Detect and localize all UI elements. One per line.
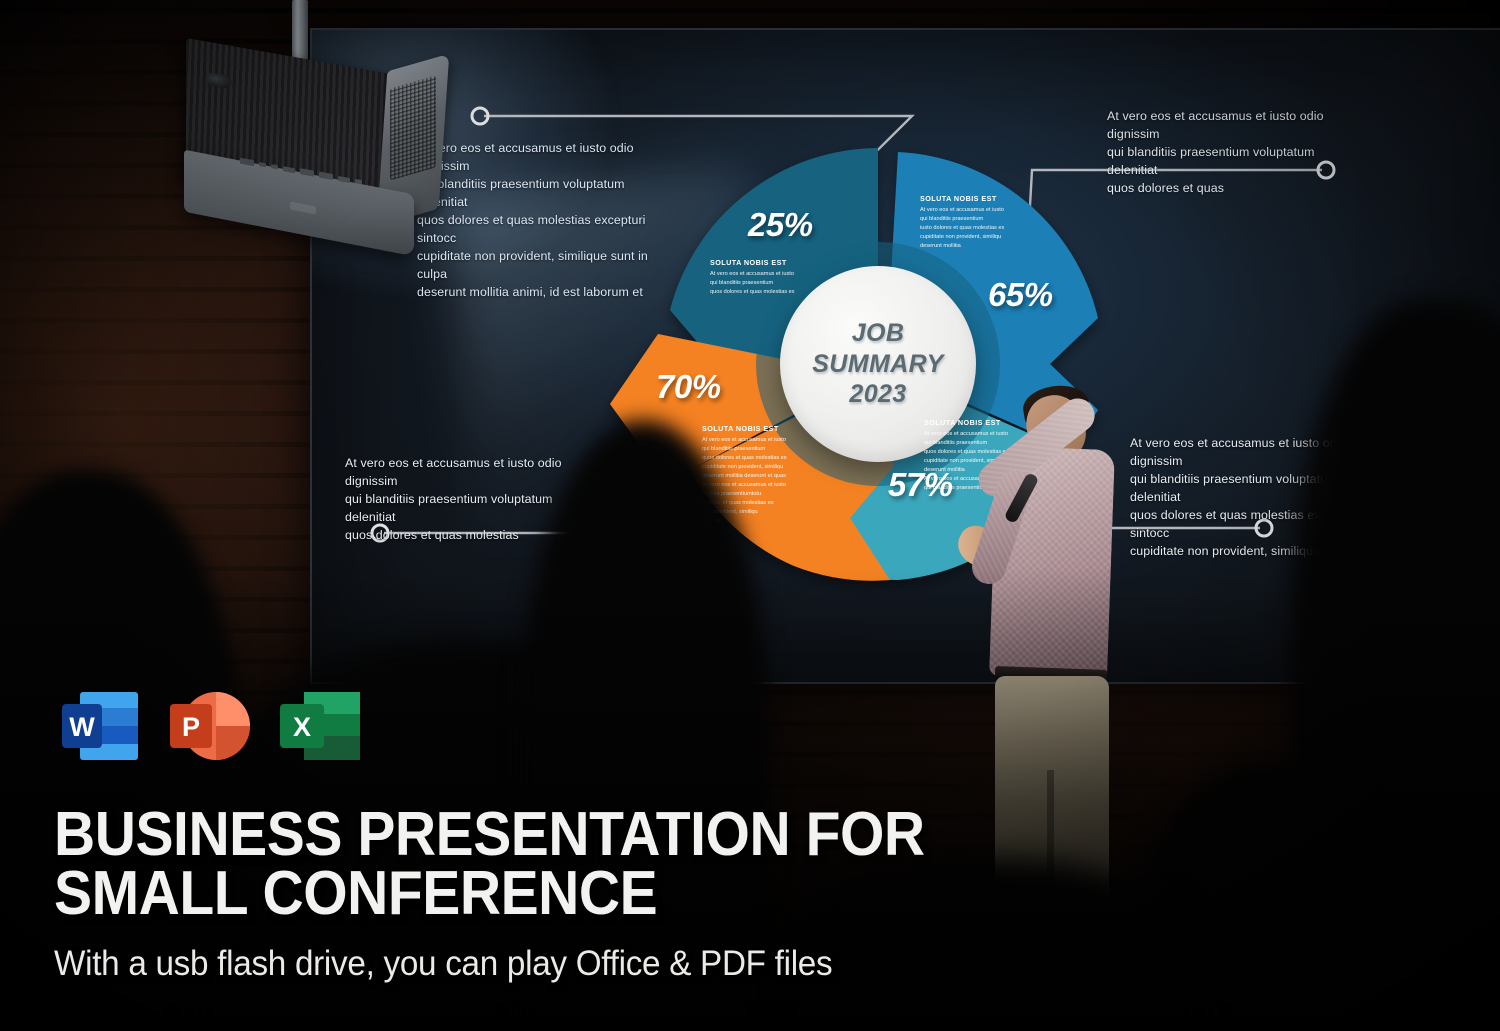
powerpoint-icon[interactable]: P — [164, 688, 256, 764]
segment-label-25: 25% — [748, 206, 813, 244]
port-hdmi-2 — [319, 172, 333, 180]
excel-icon-letter: X — [293, 712, 311, 742]
banner-headline: BUSINESS PRESENTATION FOR SMALL CONFEREN… — [54, 806, 1029, 924]
port-lan — [355, 179, 362, 184]
segment-text-65: SOLUTA NOBIS EST At vero eos et accusamu… — [920, 194, 1032, 251]
segment-text-25: SOLUTA NOBIS EST At vero eos et accusamu… — [710, 258, 822, 297]
port-power — [259, 162, 266, 167]
powerpoint-icon-letter: P — [182, 712, 200, 742]
segment-body-65: At vero eos et accusamus et iusto qui bl… — [920, 206, 1032, 251]
audience-silhouette-3 — [520, 420, 770, 1031]
word-icon-letter: W — [69, 712, 95, 742]
segment-body-25: At vero eos et accusamus et iusto qui bl… — [710, 270, 822, 297]
hub-line-3: 2023 — [849, 379, 906, 410]
excel-icon[interactable]: X — [274, 688, 366, 764]
segment-heading-25: SOLUTA NOBIS EST — [710, 258, 822, 267]
port-usb-2 — [338, 175, 350, 182]
banner-subline: With a usb flash drive, you can play Off… — [54, 944, 1099, 984]
hub-line-2: SUMMARY — [812, 349, 944, 380]
port-reset — [271, 164, 278, 169]
office-app-icon-row: W P X — [54, 688, 366, 764]
screenshot-root: At vero eos et accusamus et iusto odio d… — [0, 0, 1500, 1031]
projector-vent-grill — [390, 75, 436, 180]
segment-heading-70: SOLUTA NOBIS EST — [702, 424, 814, 433]
port-audio — [240, 158, 254, 166]
port-usb-1 — [283, 166, 295, 173]
ceiling-projector[interactable] — [178, 52, 424, 238]
word-icon[interactable]: W — [54, 688, 146, 764]
segment-heading-65: SOLUTA NOBIS EST — [920, 194, 1032, 203]
callout-text-top-right: At vero eos et accusamus et iusto odio d… — [1107, 108, 1357, 198]
segment-label-70: 70% — [656, 368, 721, 406]
port-hdmi-1 — [300, 168, 314, 176]
hub-line-1: JOB — [852, 318, 905, 349]
